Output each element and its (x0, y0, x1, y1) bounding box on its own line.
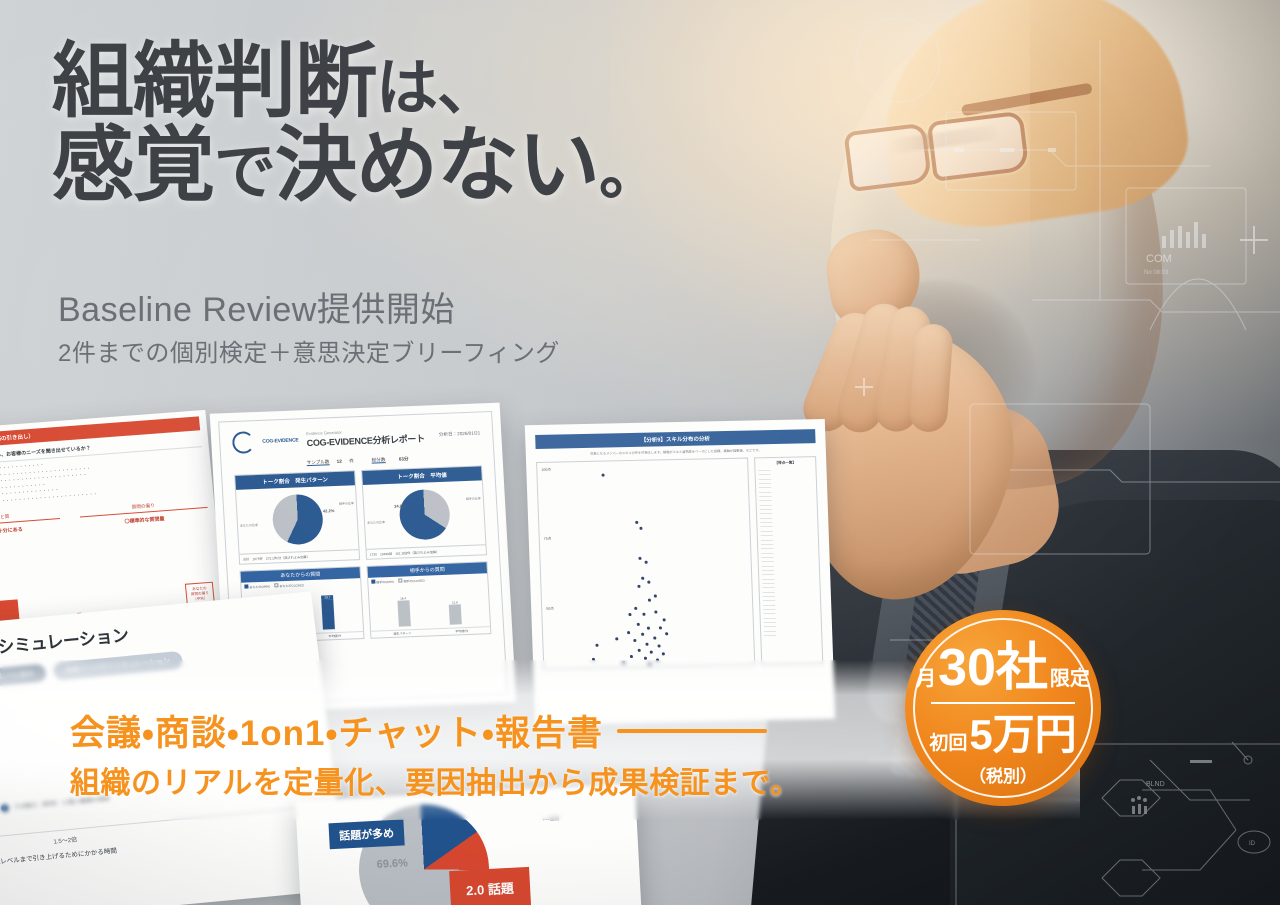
orange-rule (617, 729, 767, 733)
headline-block: 組織判断は、 感覚で決めない。 (52, 40, 812, 209)
limited-offer-badge: 月 30社 限定 初回 5万円 （税別） (905, 610, 1101, 806)
hero-banner: COM No 08:03 BLND ID ：HEARING（ニーズ・課題感の引き… (0, 0, 1280, 905)
orange-band-line-2: 組織のリアルを定量化、要因抽出から成果検証まで。 (70, 758, 801, 802)
subheadline-line-1: Baseline Review提供開始 (58, 282, 455, 331)
subheadline-line-2: 2件までの個別検定＋意思決定ブリーフィング (58, 333, 560, 368)
headline-line-2: 感覚で決めない。 (52, 124, 812, 208)
headline-line-1: 組織判断は、 (52, 40, 812, 124)
badge-divider (931, 702, 1075, 704)
badge-row-price: 初回 5万円 (905, 714, 1101, 756)
orange-band-line-1: 会議・商談・1on1・チャット・報告書 (70, 705, 767, 756)
badge-tax-note: （税別） (905, 762, 1101, 787)
badge-row-count: 月 30社 限定 (905, 644, 1101, 693)
